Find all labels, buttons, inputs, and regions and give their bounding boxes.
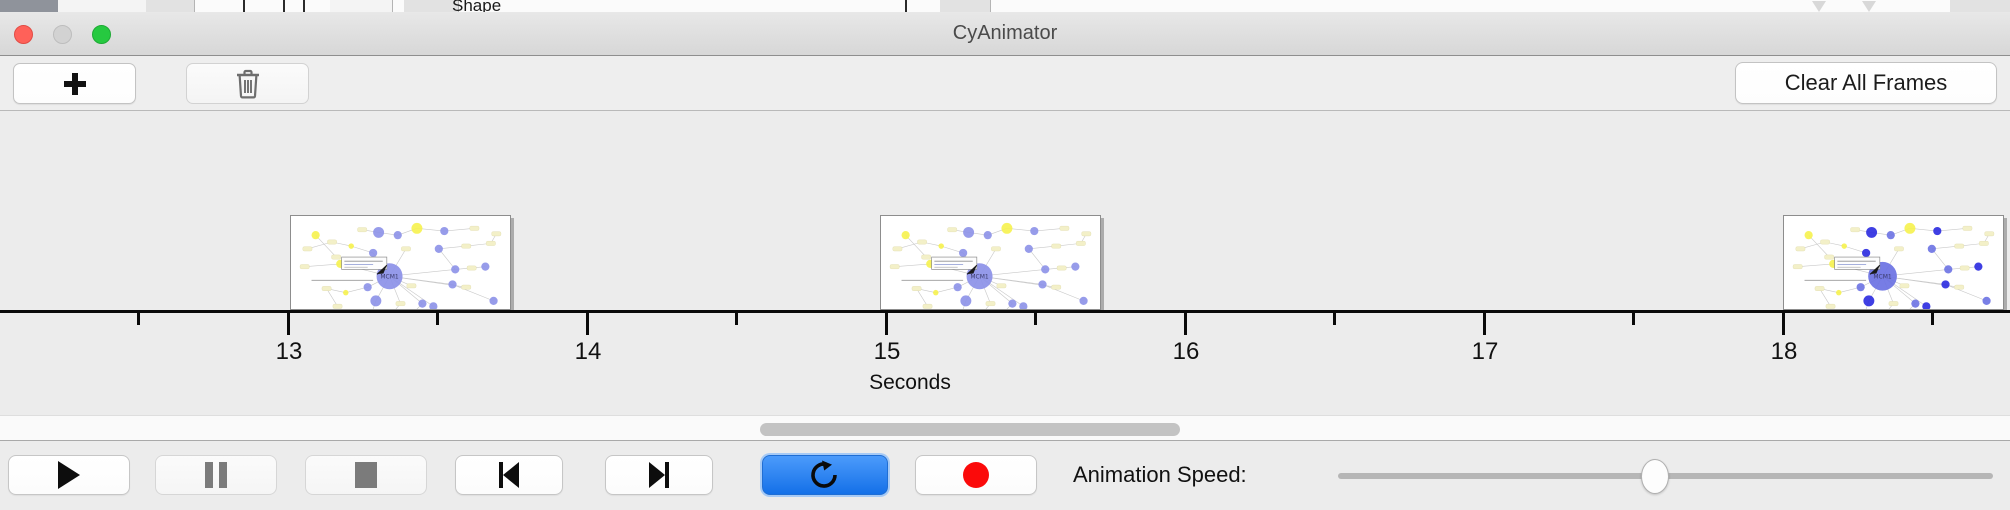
add-frame-button[interactable]	[13, 63, 136, 104]
clear-all-frames-label: Clear All Frames	[1785, 70, 1948, 96]
slider-thumb[interactable]	[1641, 459, 1669, 494]
record-icon	[963, 462, 989, 488]
bg-chip	[1950, 0, 2010, 12]
timeline-track[interactable]: MCM1 MCM1 MCM1	[0, 111, 2010, 310]
stop-icon	[355, 462, 377, 488]
timeline-ruler: 2131415161718 Seconds	[0, 310, 2010, 410]
network-graph: MCM1	[291, 216, 510, 310]
timeline-scrollbar-thumb[interactable]	[760, 423, 1180, 436]
clear-all-frames-button[interactable]: Clear All Frames	[1735, 62, 1997, 104]
trash-icon	[235, 69, 261, 99]
play-button[interactable]	[8, 455, 130, 495]
ruler-tick-minor	[735, 313, 738, 325]
bg-tick	[243, 0, 245, 12]
ruler-tick-minor	[137, 313, 140, 325]
timeline-scrollbar[interactable]	[0, 415, 2010, 441]
timeline-frame-thumbnail[interactable]: MCM1	[1783, 215, 2004, 310]
ruler-tick-label: 16	[1173, 338, 1200, 366]
bg-chip	[404, 0, 459, 12]
ruler-tick-label: 17	[1472, 338, 1499, 366]
ruler-tick-label: 14	[575, 338, 602, 366]
ruler-tick-minor	[1632, 313, 1635, 325]
skip-to-end-icon	[646, 462, 672, 488]
ruler-tick-major	[287, 313, 290, 335]
svg-text:MCM1: MCM1	[970, 273, 989, 280]
ruler-tick-major	[1483, 313, 1486, 335]
ruler-tick-minor	[1034, 313, 1037, 325]
ruler-tick-minor	[436, 313, 439, 325]
plus-icon	[63, 72, 87, 96]
record-button[interactable]	[915, 455, 1037, 495]
svg-text:MCM1: MCM1	[380, 273, 399, 280]
toolbar: Clear All Frames	[0, 56, 2010, 111]
bg-chip	[146, 0, 195, 12]
pause-icon	[205, 462, 227, 488]
ruler-tick-minor	[1333, 313, 1336, 325]
bg-vee-icon	[1812, 1, 1826, 12]
ruler-tick-label: 15	[874, 338, 901, 366]
network-graph: MCM1	[881, 216, 1100, 310]
ruler-baseline	[0, 310, 2010, 313]
animation-speed-slider[interactable]	[1338, 473, 1993, 479]
loop-icon	[808, 459, 842, 491]
bg-chip	[940, 0, 991, 12]
ruler-tick-label: 18	[1771, 338, 1798, 366]
ruler-tick-label: 13	[276, 338, 303, 366]
ruler-tick-major	[885, 313, 888, 335]
window-title: CyAnimator	[0, 12, 2010, 55]
network-graph: MCM1	[1784, 216, 2003, 310]
svg-text:MCM1: MCM1	[1873, 273, 1892, 280]
title-bar: CyAnimator	[0, 12, 2010, 56]
bg-tick	[905, 0, 907, 12]
timeline-frame-thumbnail[interactable]: MCM1	[880, 215, 1101, 310]
ruler-tick-major	[586, 313, 589, 335]
bg-tick	[303, 0, 305, 12]
bg-chip	[330, 0, 393, 12]
ruler-tick-major	[1782, 313, 1785, 335]
timeline-frame-thumbnail[interactable]: MCM1	[290, 215, 511, 310]
bg-vee-icon	[1862, 1, 1876, 12]
axis-title: Seconds	[0, 371, 2010, 395]
skip-to-start-icon	[496, 462, 522, 488]
cyanimator-window: Shape CyAnimator Clear All Frames	[0, 0, 2010, 510]
skip-to-start-button[interactable]	[455, 455, 563, 495]
bg-chip	[58, 0, 147, 12]
axis-title-text: Seconds	[869, 371, 951, 394]
ruler-tick-major	[1184, 313, 1187, 335]
animation-speed-label: Animation Speed:	[1073, 462, 1247, 488]
bg-tick	[283, 0, 285, 12]
pause-button[interactable]	[155, 455, 277, 495]
play-icon	[58, 461, 80, 489]
ruler-tick-minor	[1931, 313, 1934, 325]
stop-button[interactable]	[305, 455, 427, 495]
loop-button[interactable]	[762, 455, 888, 495]
skip-to-end-button[interactable]	[605, 455, 713, 495]
playback-controls: Animation Speed:	[0, 442, 2010, 510]
delete-frame-button[interactable]	[186, 63, 309, 104]
bg-chip	[0, 0, 59, 12]
